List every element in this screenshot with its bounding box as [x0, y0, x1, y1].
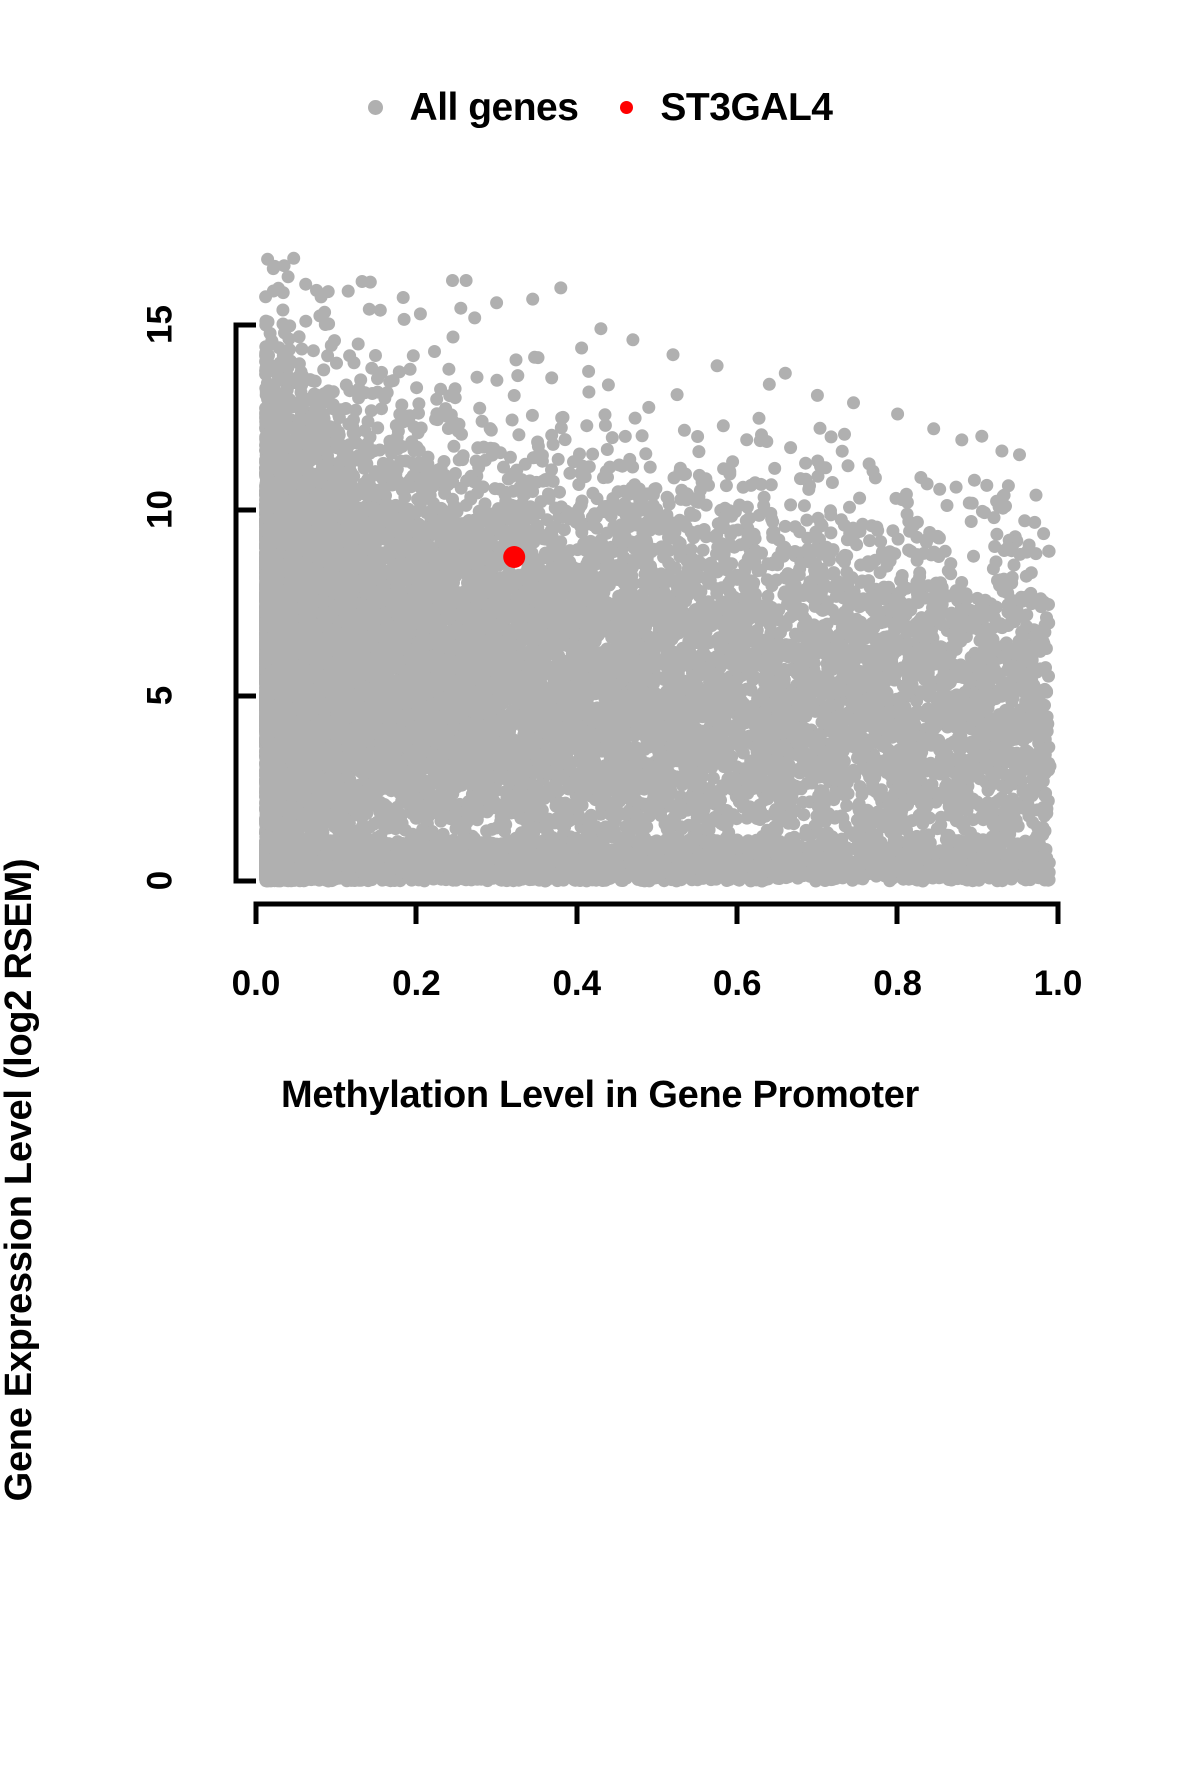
y-tick-label-5: 5 [143, 665, 178, 725]
y-tick-label-15: 15 [143, 295, 178, 355]
x-tick-label-1.0: 1.0 [1034, 966, 1083, 1001]
x-tick-label-0.4: 0.4 [552, 966, 601, 1001]
grey-dot-icon [368, 100, 383, 115]
chart-canvas [0, 0, 1200, 1200]
x-axis-title: Methylation Level in Gene Promoter [0, 1076, 1200, 1114]
legend-item-st3gal4[interactable]: ST3GAL4 [620, 88, 832, 127]
red-dot-icon [620, 101, 633, 114]
st3gal4-data-point [503, 546, 525, 568]
x-tick-label-0.6: 0.6 [713, 966, 762, 1001]
x-tick-label-0.2: 0.2 [392, 966, 441, 1001]
y-tick-label-0: 0 [143, 851, 178, 911]
y-tick-label-10: 10 [143, 480, 178, 540]
legend-label-st3gal4: ST3GAL4 [660, 88, 832, 127]
legend-item-all-genes[interactable]: All genes [368, 88, 579, 127]
legend-label-all-genes: All genes [410, 88, 579, 127]
scatter-plot-figure: All genes ST3GAL4 Methylation Level in G… [0, 0, 1200, 1200]
x-tick-label-0.0: 0.0 [232, 966, 281, 1001]
y-axis-title: Gene Expression Level (log2 RSEM) [0, 580, 40, 1780]
x-tick-label-0.8: 0.8 [873, 966, 922, 1001]
st3gal4-highlight-point [503, 546, 525, 568]
